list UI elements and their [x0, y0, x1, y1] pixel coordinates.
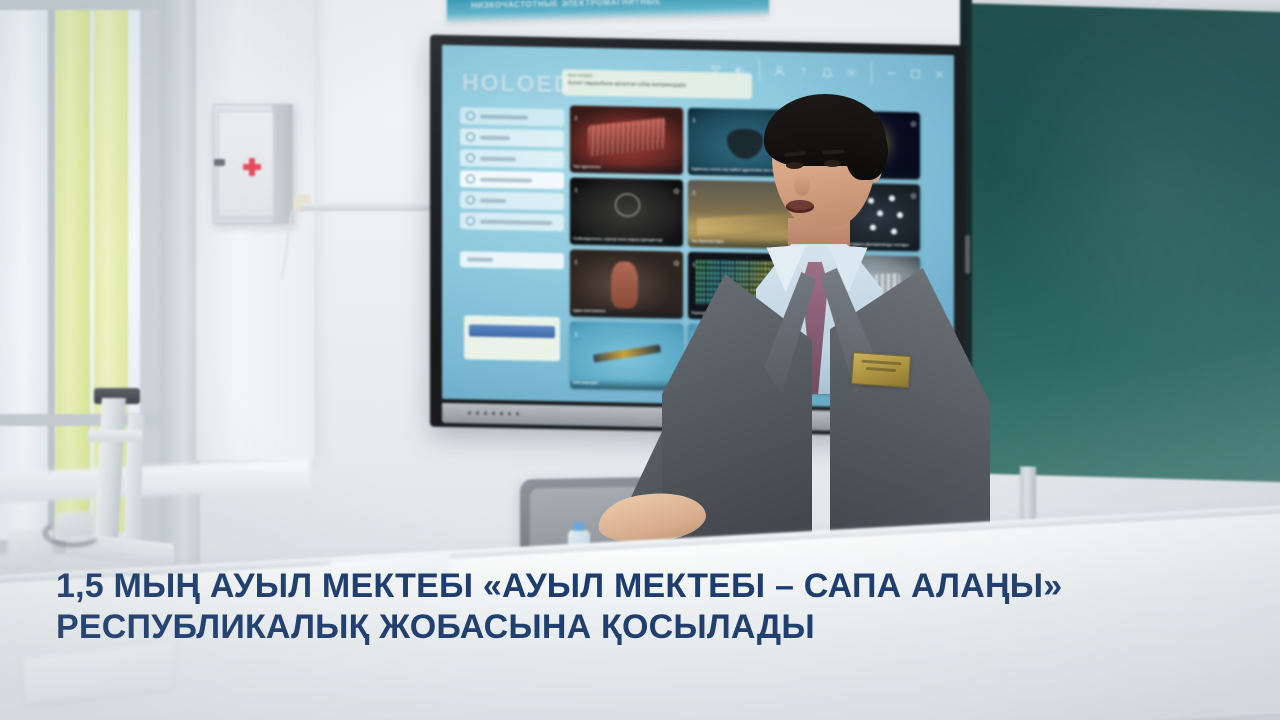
chalkboard-surface — [972, 3, 1280, 482]
presenter-mouth — [786, 200, 814, 213]
window-blind — [0, 2, 50, 532]
screenshot-frame: НИЗКОЧАСТОТНЫЕ ЭЛЕКТРОМАГНИТНЫЕ HOLOED Қ… — [0, 0, 1280, 720]
sidebar-item-label — [480, 198, 506, 203]
sidebar-item-1[interactable] — [460, 128, 564, 147]
circle-icon — [466, 153, 475, 162]
wall-column — [196, 0, 314, 460]
sidebar-item-label — [480, 135, 510, 140]
minimize-icon[interactable] — [885, 66, 898, 79]
greeting-line-2: Бүгінгі тақырыбына арналған сабақ матери… — [568, 80, 746, 91]
cabinet-door — [218, 111, 274, 217]
chalkboard — [972, 3, 1280, 482]
presenter — [660, 96, 990, 566]
sidebar-item-3[interactable] — [460, 170, 564, 189]
download-icon — [573, 323, 579, 329]
headline-overlay: 1,5 МЫҢ АУЫЛ МЕКТЕБІ «АУЫЛ МЕКТЕБІ – САП… — [56, 566, 1236, 648]
account-icon[interactable] — [773, 64, 786, 77]
bottle-cap — [573, 522, 585, 531]
lab-stand-arm — [88, 430, 142, 442]
sidebar-item-5[interactable] — [460, 212, 564, 231]
presenter-eye — [786, 162, 803, 169]
menu-icon — [466, 111, 475, 120]
cabinet-side — [272, 105, 292, 223]
sidebar-item-label — [480, 156, 516, 161]
app-sidebar[interactable] — [460, 107, 564, 231]
sidebar-item-4[interactable] — [460, 191, 564, 210]
settings-icon[interactable] — [845, 65, 858, 78]
maximize-icon[interactable] — [909, 67, 922, 80]
lab-stand-post — [94, 398, 126, 544]
download-icon — [573, 107, 579, 113]
circle-icon — [466, 195, 475, 204]
headline-line-2: РЕСПУБЛИКАЛЫҚ ЖОБАСЫНА ҚОСЫЛАДЫ — [56, 607, 1236, 648]
presenter-nose — [794, 174, 810, 196]
display-control-buttons[interactable] — [468, 411, 519, 415]
close-icon[interactable] — [933, 67, 946, 80]
download-icon — [573, 179, 579, 185]
sidebar-action-label — [467, 257, 493, 262]
sidebar-action-button[interactable] — [460, 251, 564, 269]
cabinet-lock — [214, 159, 225, 166]
sidebar-item-2[interactable] — [460, 149, 564, 168]
sidebar-item-0[interactable] — [460, 107, 564, 126]
volume-icon[interactable] — [733, 63, 746, 76]
sidebar-item-label — [480, 177, 532, 182]
red-cross-icon — [243, 158, 261, 176]
notification-icon[interactable] — [821, 65, 834, 78]
app-popup[interactable] — [464, 315, 560, 361]
wall-rail — [300, 203, 448, 211]
headline-line-1: 1,5 МЫҢ АУЫЛ МЕКТЕБІ «АУЫЛ МЕКТЕБІ – САП… — [56, 567, 1062, 605]
sidebar-item-label — [480, 114, 528, 119]
app-topbar — [709, 58, 946, 85]
help-icon[interactable] — [797, 64, 810, 77]
first-aid-cabinet — [213, 104, 293, 224]
presenter-eye — [824, 160, 841, 167]
sidebar-item-label — [480, 219, 552, 224]
topbar-divider — [871, 61, 872, 83]
circle-icon — [466, 132, 475, 141]
circle-icon — [466, 216, 475, 225]
app-logo: HOLOED — [462, 69, 572, 98]
topbar-divider — [759, 59, 760, 81]
app-popup-button[interactable] — [469, 324, 555, 338]
coiled-cable — [44, 520, 102, 546]
app-popup-text — [469, 319, 555, 321]
presenter-name-badge — [851, 352, 911, 388]
wifi-icon[interactable] — [709, 63, 722, 76]
download-icon — [573, 251, 579, 257]
wall-poster-text: НИЗКОЧАСТОТНЫЕ ЭЛЕКТРОМАГНИТНЫЕ — [471, 0, 661, 10]
circle-icon — [466, 174, 475, 183]
